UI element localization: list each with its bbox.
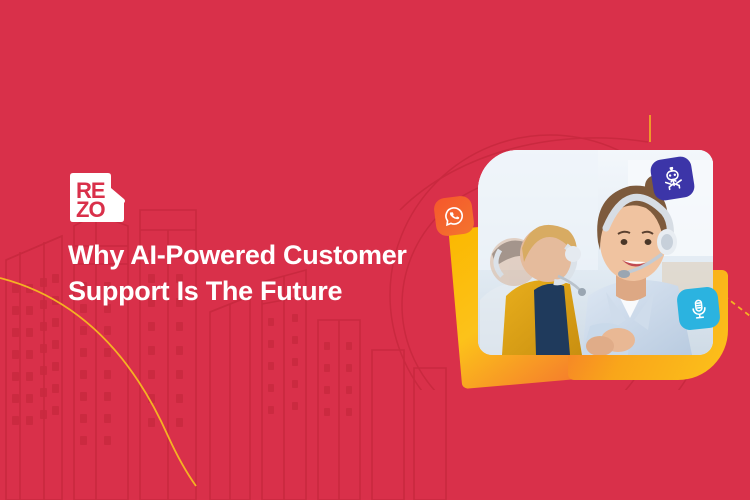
page-title: Why AI-Powered Customer Support Is The F… [68,238,448,310]
banner-root: RE ZO .AI Why AI-Powered Customer Suppor… [0,0,750,500]
logo-text-ai: .AI [112,210,122,219]
rezo-logo-mark: RE ZO .AI [68,172,126,224]
text-column: RE ZO .AI Why AI-Powered Customer Suppor… [68,172,448,310]
robot-chatbot-icon [659,165,686,192]
microphone-icon [686,296,710,320]
voice-badge[interactable] [676,286,721,331]
logo-text-zo: ZO [76,197,105,222]
chatbot-badge[interactable] [649,155,696,202]
rezo-ai-logo[interactable]: RE ZO .AI [68,172,126,224]
visual-composition [430,120,740,380]
